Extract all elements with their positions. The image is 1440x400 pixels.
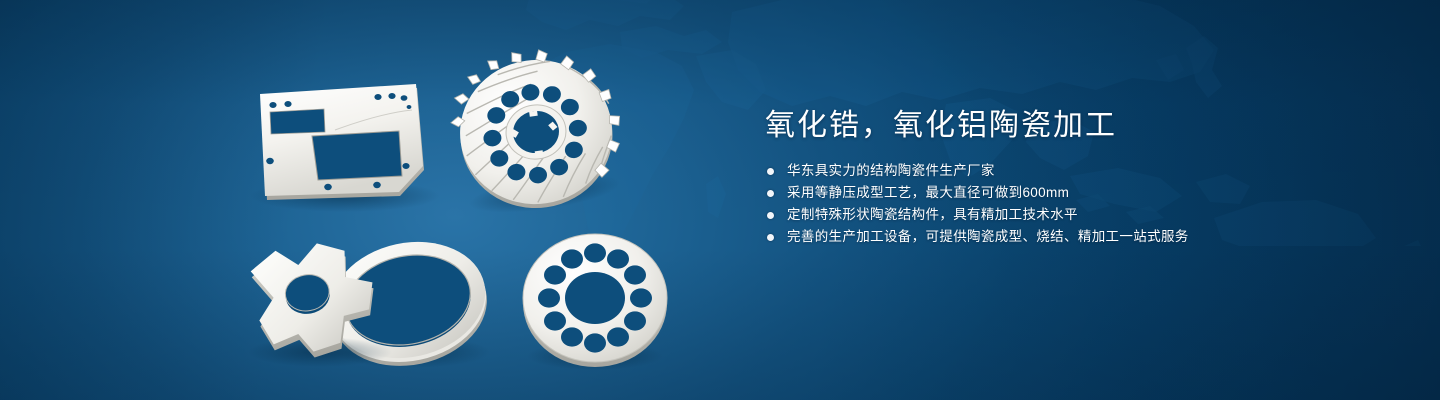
feature-text: 定制特殊形状陶瓷结构件，具有精加工技术水平 bbox=[787, 206, 1078, 224]
page-title: 氧化锆，氧化铝陶瓷加工 bbox=[765, 104, 1385, 148]
feature-text: 采用等静压成型工艺，最大直径可做到600mm bbox=[787, 184, 1069, 202]
bullet-dot-icon bbox=[767, 212, 774, 219]
list-item: 采用等静压成型工艺，最大直径可做到600mm bbox=[767, 184, 1385, 202]
feature-list: 华东具实力的结构陶瓷件生产厂家 采用等静压成型工艺，最大直径可做到600mm 定… bbox=[767, 162, 1385, 246]
bullet-dot-icon bbox=[767, 168, 774, 175]
list-item: 完善的生产加工设备，可提供陶瓷成型、烧结、精加工一站式服务 bbox=[767, 228, 1385, 246]
ceramic-impeller-disc bbox=[442, 39, 631, 221]
list-item: 定制特殊形状陶瓷结构件，具有精加工技术水平 bbox=[767, 206, 1385, 224]
feature-text: 完善的生产加工设备，可提供陶瓷成型、烧结、精加工一站式服务 bbox=[787, 228, 1189, 246]
promo-copy: 氧化锆，氧化铝陶瓷加工 华东具实力的结构陶瓷件生产厂家 采用等静压成型工艺，最大… bbox=[765, 104, 1385, 250]
ceramic-mounting-plate bbox=[250, 84, 440, 212]
feature-text: 华东具实力的结构陶瓷件生产厂家 bbox=[787, 162, 995, 180]
list-item: 华东具实力的结构陶瓷件生产厂家 bbox=[767, 162, 1385, 180]
ceramic-processing-banner: 氧化锆，氧化铝陶瓷加工 华东具实力的结构陶瓷件生产厂家 采用等静压成型工艺，最大… bbox=[0, 0, 1440, 400]
bullet-dot-icon bbox=[767, 190, 774, 197]
bullet-dot-icon bbox=[767, 234, 774, 241]
ceramic-perforated-disc bbox=[523, 234, 667, 370]
ceramic-products-montage bbox=[0, 0, 760, 400]
